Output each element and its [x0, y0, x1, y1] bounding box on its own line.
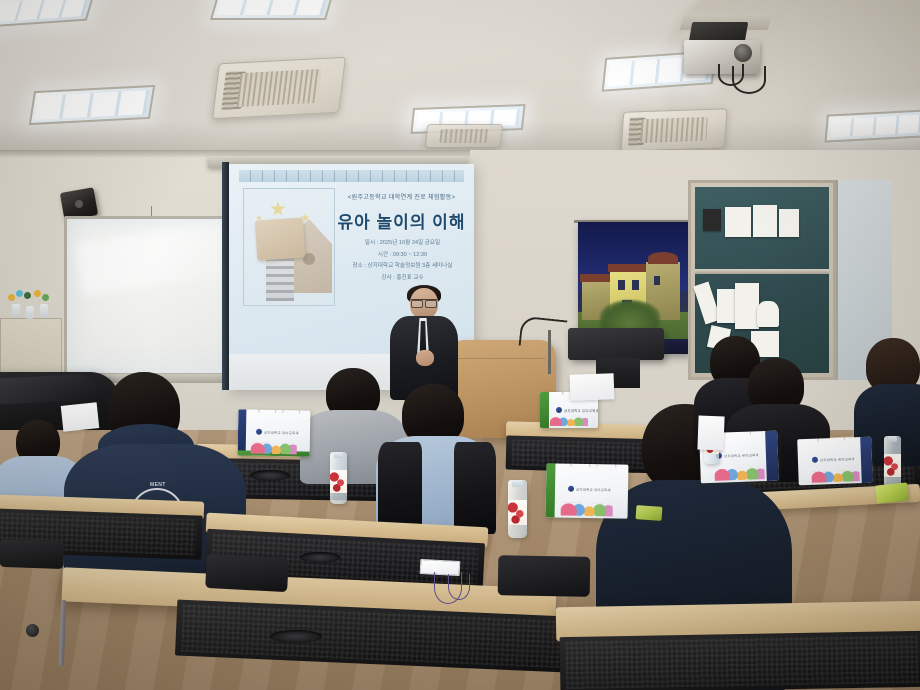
water-bottle	[508, 480, 527, 538]
paper-craft	[735, 283, 759, 329]
hoodie-crest-top-text: MENT	[150, 482, 166, 488]
water-bottle	[884, 436, 901, 488]
bottle-cap	[512, 480, 523, 487]
projector-cable	[732, 66, 766, 94]
bag-illustration	[560, 503, 613, 517]
chair	[498, 555, 591, 597]
ac-grille	[237, 69, 321, 108]
chair	[205, 554, 289, 592]
bag-handle	[282, 409, 300, 413]
classroom-photo: <원주고등학교 대학연계 진로 체험활동> 유아 놀이의 이해 일시 : 202…	[0, 0, 920, 690]
whiteboard-glare	[76, 223, 232, 295]
flower-bloom	[16, 290, 23, 297]
student-vest	[378, 442, 422, 534]
gift-bag: 상지대학교 유아교육과	[238, 409, 311, 456]
student	[370, 384, 500, 534]
bag-handle	[596, 463, 616, 467]
glasses-icon	[411, 299, 437, 305]
paper-craft	[779, 209, 799, 237]
ceiling-projector	[672, 14, 784, 82]
bag-logo: 상지대학교 유아교육과	[812, 455, 855, 462]
bag-illustration	[251, 443, 297, 455]
paper-craft	[757, 301, 779, 327]
bag-logo-mark	[256, 429, 262, 435]
flower-bloom	[8, 294, 15, 301]
ceiling-light-panel	[210, 0, 334, 20]
microphone-pole	[548, 330, 551, 374]
bag-side-panel	[238, 409, 247, 455]
bag-handle	[817, 437, 845, 442]
bag-logo: 상지대학교 유아교육과	[556, 407, 598, 413]
bag-side-panel	[765, 431, 779, 481]
bottle-label	[884, 454, 901, 477]
bag-side-panel	[860, 437, 873, 483]
bag-logo-text: 상지대학교 유아교육과	[564, 408, 598, 413]
handout-papers	[570, 373, 615, 401]
projection-screen-edge	[222, 162, 229, 390]
snack-pack	[636, 505, 663, 521]
desk-caster	[26, 624, 39, 637]
bag-logo-text: 상지대학교 유아교육과	[820, 456, 855, 462]
slide-header-text: <원주고등학교 대학연계 진로 체험활동>	[337, 194, 466, 201]
confidence-monitor	[568, 328, 664, 360]
paper-craft	[703, 209, 721, 231]
bag-logo-text: 상지대학교 유아교육과	[576, 486, 611, 492]
bag-logo: 상지대학교 유아교육과	[716, 451, 759, 458]
slide-cardboard-costume	[255, 217, 306, 260]
bottle-label	[330, 470, 347, 493]
tapestry-dome-roof	[648, 252, 678, 264]
lanyard-cord	[448, 574, 470, 600]
bag-side-panel	[546, 463, 556, 517]
flower-vase	[26, 306, 34, 320]
flower-bloom	[24, 292, 31, 299]
bag-logo-text: 상지대학교 유아교육과	[724, 452, 759, 458]
bag-logo: 상지대학교 유아교육과	[256, 429, 299, 436]
display-shelf	[695, 269, 829, 274]
water-bottle	[330, 452, 347, 504]
tapestry-window	[654, 276, 660, 285]
chair	[0, 539, 64, 569]
desk-modesty-panel	[560, 631, 920, 690]
slide-star-icon	[270, 201, 286, 217]
handout-papers	[61, 402, 100, 432]
slide-detail-place: 장소 : 상지대학교 학술정보원 3층 세미나실	[337, 261, 468, 273]
paper-craft	[725, 207, 751, 237]
bottle-cap	[334, 452, 344, 458]
desk-cable-grommet	[250, 470, 290, 481]
slide-decorative-bar	[239, 170, 464, 182]
flower-bloom	[42, 294, 49, 301]
slide-detail-date: 일시 : 2025년 10월 24일 금요일	[337, 238, 468, 250]
bottle-cap	[888, 436, 898, 442]
tapestry-window	[618, 280, 625, 290]
tapestry-window	[632, 280, 639, 290]
student-vest	[454, 442, 496, 534]
flower-vase	[12, 304, 20, 318]
flower-vase	[40, 304, 48, 318]
bag-illustration	[714, 467, 764, 481]
slide-detail-lines: 일시 : 2025년 10월 24일 금요일 시간 : 09:30 ~ 12:3…	[337, 238, 468, 285]
gooseneck-microphone	[519, 316, 568, 351]
desk-cable-grommet	[270, 630, 322, 643]
bag-logo-text: 상지대학교 유아교육과	[264, 429, 299, 435]
bag-illustration	[550, 417, 587, 426]
bag-handle	[570, 463, 590, 467]
flower-bloom	[34, 290, 41, 297]
bag-logo-mark	[556, 407, 562, 413]
bag-logo-mark	[812, 457, 818, 463]
bag-logo-mark	[568, 486, 574, 492]
tapestry-roof	[580, 274, 614, 282]
projector-lens	[734, 44, 752, 62]
slide-title: 유아 놀이의 이해	[337, 208, 466, 233]
ceiling-ac-unit	[212, 57, 346, 120]
slide-detail-time: 시간 : 09:30 ~ 12:30	[337, 250, 468, 262]
desk-cable-grommet	[300, 552, 340, 563]
bag-side-panel	[540, 392, 549, 428]
gift-bag: 상지대학교 유아교육과	[797, 437, 873, 486]
bag-handle	[258, 409, 276, 413]
slide-photo	[243, 188, 335, 306]
snack-pack	[875, 482, 909, 503]
bottle-label	[508, 500, 527, 526]
handout-papers	[697, 416, 724, 451]
slide-detail-lecturer: 강사 : 홍진표 교수	[337, 273, 468, 285]
bag-logo: 상지대학교 유아교육과	[568, 486, 611, 493]
paper-craft	[753, 205, 777, 237]
bag-illustration	[812, 470, 860, 483]
gift-bag: 상지대학교 유아교육과	[546, 463, 629, 518]
presenter-hands	[416, 350, 434, 366]
